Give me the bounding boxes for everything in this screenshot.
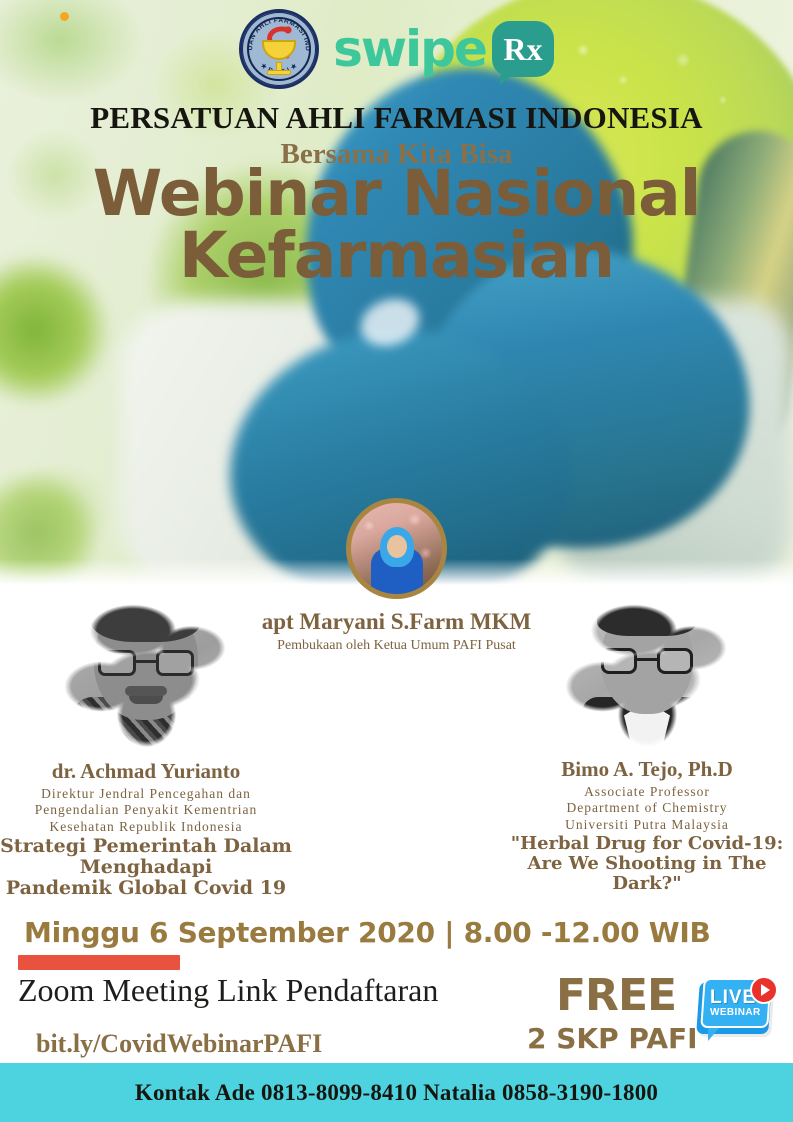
glasses-right-lens — [156, 650, 194, 676]
right-speaker: Bimo A. Tejo, Ph.D Associate Professor D… — [497, 578, 793, 894]
left-affiliation-line2: Pengendalian Penyakit Kementrian — [0, 802, 296, 818]
contact-text: Kontak Ade 0813-8099-8410 Natalia 0858-3… — [135, 1080, 658, 1106]
left-affiliation-line1: Direktur Jendral Pencegahan dan — [0, 786, 296, 802]
left-speaker-affiliation: Direktur Jendral Pencegahan dan Pengenda… — [0, 786, 296, 835]
right-speaker-portrait — [535, 578, 760, 753]
center-speaker-avatar — [346, 498, 447, 599]
portrait-glasses-icon — [98, 650, 194, 676]
left-affiliation-line3: Kesehatan Republik Indonesia — [0, 819, 296, 835]
live-badge-webinar-label: WEBINAR — [710, 1008, 761, 1018]
right-topic-line1: "Herbal Drug for Covid-19: — [497, 834, 793, 854]
glasses-right-lens — [657, 648, 693, 674]
event-datetime: Minggu 6 September 2020 | 8.00 -12.00 WI… — [24, 916, 711, 949]
rx-label: Rx — [503, 33, 542, 65]
free-badge: FREE — [556, 970, 676, 1021]
left-topic-line1: Strategi Pemerintah Dalam Menghadapi — [0, 836, 296, 878]
right-speaker-photo — [535, 578, 760, 753]
left-speaker-photo — [34, 578, 259, 753]
live-badge-tail — [708, 1028, 719, 1041]
left-topic-line2: Pandemik Global Covid 19 — [0, 878, 296, 899]
avatar-face — [387, 535, 407, 558]
red-underline-bar — [18, 955, 180, 970]
registration-platform-label: Zoom Meeting Link Pendaftaran — [18, 972, 438, 1009]
glasses-left-lens — [601, 648, 637, 674]
swiperx-logo: swipe Rx — [333, 21, 554, 77]
skp-badge: 2 SKP PAFI — [527, 1022, 698, 1055]
organization-title: PERSATUAN AHLI FARMASI INDONESIA — [0, 100, 793, 136]
swipe-i-dot — [60, 12, 69, 21]
right-speaker-affiliation: Associate Professor Department of Chemis… — [497, 784, 793, 833]
rx-bubble-icon: Rx — [492, 21, 554, 77]
swipe-wordmark: swipe — [333, 24, 486, 74]
right-speaker-topic: "Herbal Drug for Covid-19: Are We Shooti… — [497, 834, 793, 893]
contact-footer: Kontak Ade 0813-8099-8410 Natalia 0858-3… — [0, 1063, 793, 1122]
portrait-moustache — [125, 686, 167, 696]
main-title: Webinar Nasional Kefarmasian — [0, 163, 793, 286]
right-affiliation-line3: Universiti Putra Malaysia — [497, 817, 793, 833]
glasses-bridge — [136, 660, 156, 663]
portrait-hair — [91, 590, 201, 642]
left-speaker-portrait — [34, 578, 259, 753]
left-speaker-name: dr. Achmad Yurianto — [0, 759, 296, 784]
right-topic-line2: Are We Shooting in The Dark?" — [497, 854, 793, 894]
webinar-poster: PERSATUAN AHLI FARMASI INDONESIA ★ P A F… — [0, 0, 793, 1122]
portrait-mouth — [129, 696, 163, 704]
glasses-bridge — [637, 658, 657, 661]
right-affiliation-line1: Associate Professor — [497, 784, 793, 800]
portrait-glasses-icon — [601, 648, 693, 674]
left-speaker-topic: Strategi Pemerintah Dalam Menghadapi Pan… — [0, 836, 296, 899]
bowl-base — [267, 70, 291, 75]
left-speaker: dr. Achmad Yurianto Direktur Jendral Pen… — [0, 578, 296, 899]
main-title-line2: Kefarmasian — [0, 225, 793, 287]
right-affiliation-line2: Department of Chemistry — [497, 800, 793, 816]
live-webinar-badge: LIVE WEBINAR — [698, 976, 778, 1048]
logo-row: PERSATUAN AHLI FARMASI INDONESIA ★ P A F… — [0, 8, 793, 90]
glasses-left-lens — [98, 650, 136, 676]
right-speaker-name: Bimo A. Tejo, Ph.D — [497, 757, 793, 782]
registration-link[interactable]: bit.ly/CovidWebinarPAFI — [36, 1029, 322, 1059]
pafi-logo-icon: PERSATUAN AHLI FARMASI INDONESIA ★ P A F… — [239, 9, 319, 89]
play-icon — [750, 976, 778, 1004]
portrait-hair — [597, 592, 697, 636]
